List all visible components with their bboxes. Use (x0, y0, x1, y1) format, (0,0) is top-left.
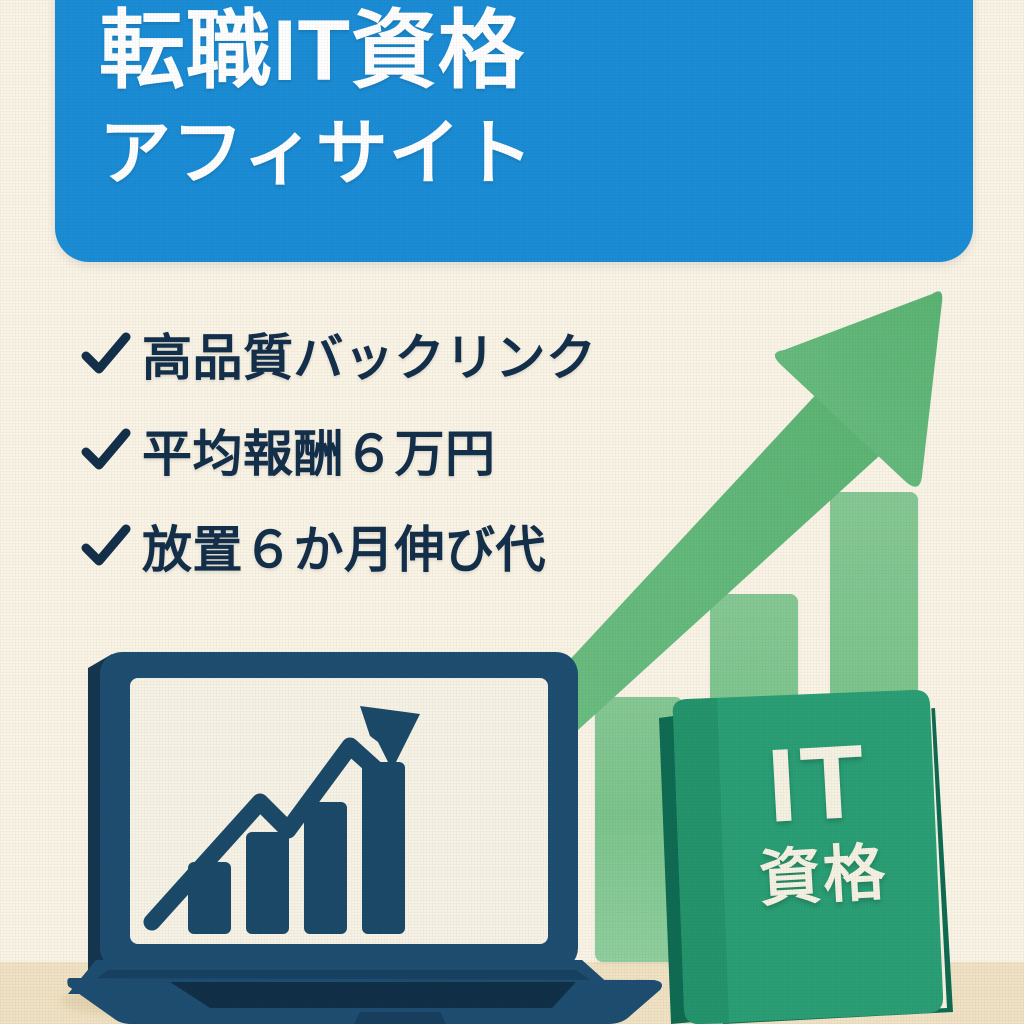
laptop-illustration (60, 630, 680, 1024)
check-icon (78, 422, 134, 478)
poster-canvas: IT 資格 転職IT資格 アフィサイト 高品質バックリンク 平均報酬６万円 放置… (0, 0, 1024, 1024)
list-item: 高品質バックリンク (78, 306, 718, 402)
check-icon (78, 518, 134, 574)
list-item: 放置６か月伸び代 (78, 498, 718, 594)
screen-bar-2 (246, 832, 289, 934)
list-item-label: 放置６か月伸び代 (142, 510, 546, 582)
list-item: 平均報酬６万円 (78, 402, 718, 498)
banner-title-line-1: 転職IT資格 (99, 8, 525, 94)
certification-book (645, 690, 985, 1024)
header-banner: 転職IT資格 アフィサイト (55, 0, 973, 262)
check-icon (78, 326, 134, 382)
laptop-keyboard (170, 982, 576, 1008)
list-item-label: 平均報酬６万円 (142, 414, 496, 486)
feature-list: 高品質バックリンク 平均報酬６万円 放置６か月伸び代 (78, 306, 718, 594)
laptop-trackpad (354, 1012, 446, 1024)
screen-bar-4 (362, 762, 405, 934)
banner-title-line-2: アフィサイト (99, 118, 534, 190)
list-item-label: 高品質バックリンク (142, 318, 597, 390)
screen-bar-3 (304, 802, 347, 934)
